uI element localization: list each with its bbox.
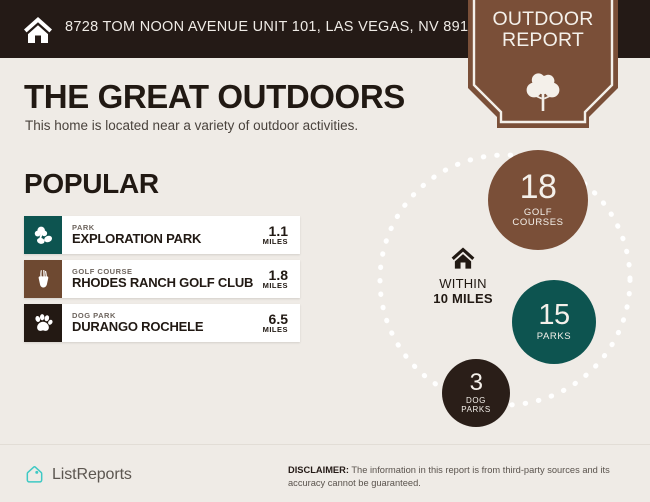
stat-value: 15 [538,301,569,329]
outdoor-report-badge [468,0,618,128]
park-tree-icon [24,216,62,254]
list-item-distance: 1.8 MILES [263,268,300,291]
stat-label: PARKS [537,332,572,343]
distance-unit: MILES [263,238,288,246]
stat-bubble-golf-courses[interactable]: 18 GOLF COURSES [488,150,588,250]
center-marker: WITHIN 10 MILES [408,245,518,307]
golf-clubs-icon [24,260,62,298]
within-10-miles-diagram: WITHIN 10 MILES 18 GOLF COURSES 15 PARKS… [360,140,650,440]
list-item[interactable]: PARK EXPLORATION PARK 1.1 MILES [24,216,300,254]
center-label-line2: 10 MILES [408,292,518,307]
footer-divider [0,444,650,445]
stat-label-line2: PARKS [461,406,491,415]
popular-list: PARK EXPLORATION PARK 1.1 MILES GOLF COU… [24,216,300,348]
page-title: THE GREAT OUTDOORS [24,78,405,116]
distance-value: 1.1 [263,224,288,239]
list-item-distance: 1.1 MILES [263,224,300,247]
disclaimer: DISCLAIMER: The information in this repo… [288,464,628,490]
stat-label: GOLF COURSES [512,208,563,229]
stat-label-line2: COURSES [512,218,563,229]
page-subtitle: This home is located near a variety of o… [25,118,358,133]
stat-value: 18 [520,171,557,204]
home-icon [450,245,476,271]
list-item-distance: 6.5 MILES [263,312,300,335]
list-item-text: DOG PARK DURANGO ROCHELE [62,312,263,335]
stat-bubble-parks[interactable]: 15 PARKS [512,280,596,364]
home-icon [22,14,54,46]
property-address: 8728 TOM NOON AVENUE UNIT 101, LAS VEGAS… [65,19,485,35]
list-item[interactable]: DOG PARK DURANGO ROCHELE 6.5 MILES [24,304,300,342]
list-item-text: PARK EXPLORATION PARK [62,224,263,247]
distance-value: 6.5 [263,312,288,327]
stat-value: 3 [470,371,483,395]
center-label-line1: WITHIN [408,277,518,292]
distance-unit: MILES [263,326,288,334]
popular-section-heading: POPULAR [24,168,159,200]
stat-bubble-dog-parks[interactable]: 3 DOG PARKS [442,359,510,427]
list-item-name: EXPLORATION PARK [72,232,263,247]
distance-unit: MILES [263,282,288,290]
list-item[interactable]: GOLF COURSE RHODES RANCH GOLF CLUB 1.8 M… [24,260,300,298]
list-item-text: GOLF COURSE RHODES RANCH GOLF CLUB [62,268,263,291]
list-item-name: RHODES RANCH GOLF CLUB [72,276,263,291]
distance-value: 1.8 [263,268,288,283]
listreports-logo-icon [24,464,45,485]
paw-icon [24,304,62,342]
list-item-name: DURANGO ROCHELE [72,320,263,335]
disclaimer-label: DISCLAIMER: [288,465,349,475]
brand-name: ListReports [52,466,132,484]
brand-logo[interactable]: ListReports [24,464,132,485]
stat-label: DOG PARKS [461,397,491,415]
